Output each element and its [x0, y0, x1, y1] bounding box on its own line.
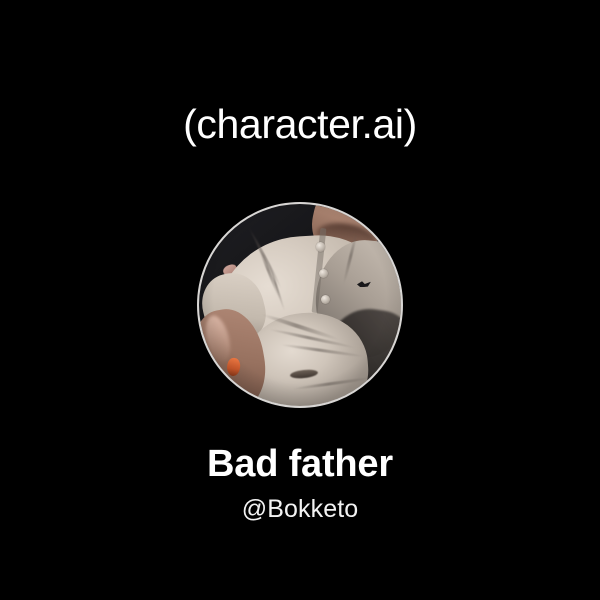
character-name: Bad father: [0, 442, 600, 486]
avatar-illustration: [199, 204, 401, 406]
avatar[interactable]: [197, 202, 403, 408]
page-title: (character.ai): [0, 100, 600, 148]
character-handle: @Bokketo: [0, 494, 600, 524]
avatar-vignette: [199, 204, 401, 406]
character-profile-card: (character.ai): [0, 0, 600, 600]
avatar-image: [199, 204, 401, 406]
